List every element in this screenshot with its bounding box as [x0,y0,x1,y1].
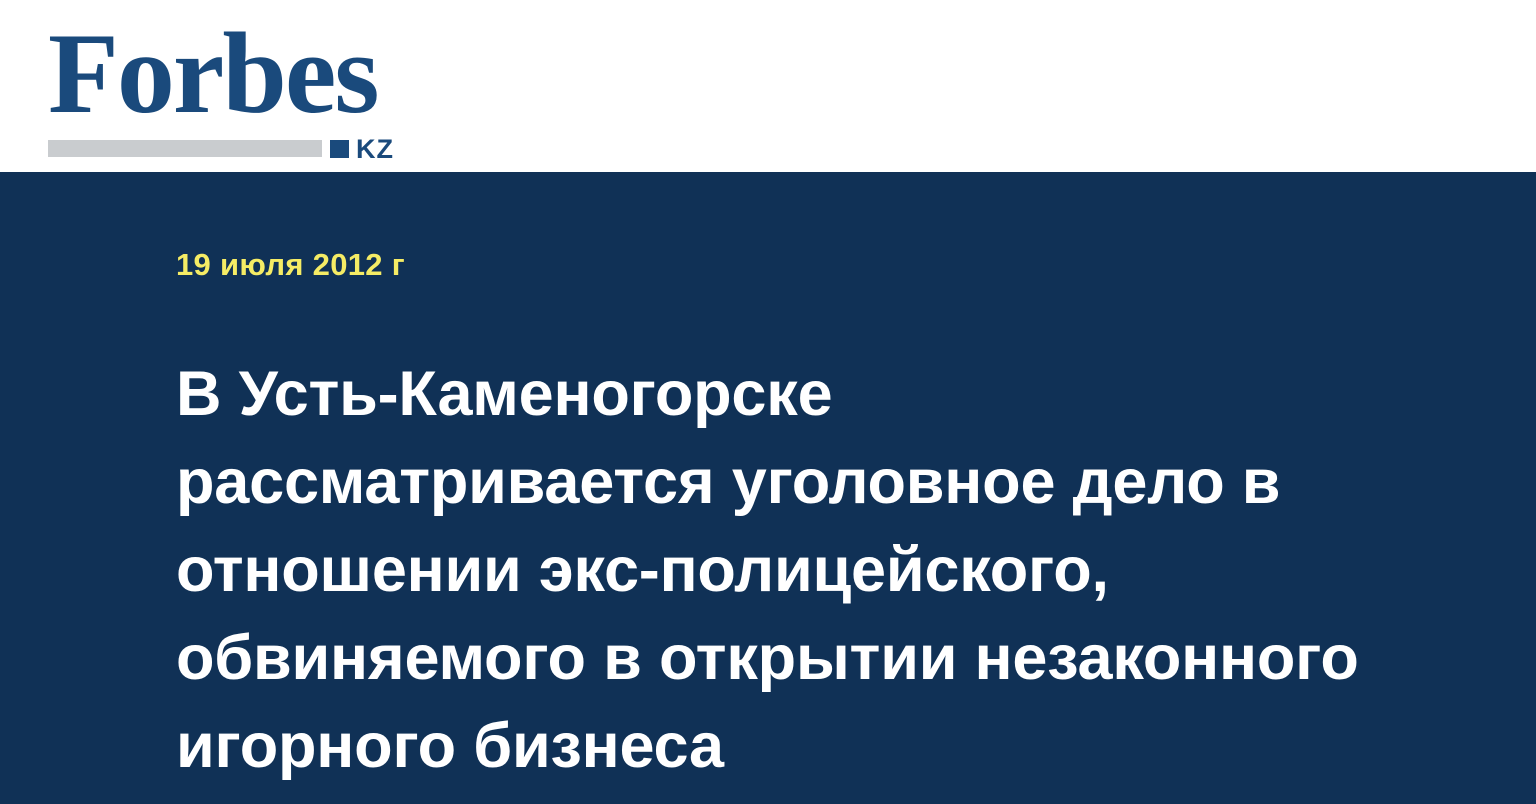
logo-square-icon [330,140,349,158]
forbes-kz-logo[interactable]: Forbes KZ [48,22,408,148]
article-publish-date: 19 июля 2012 г [176,248,405,282]
site-header: Forbes KZ [0,0,1536,172]
forbes-wordmark: Forbes [48,22,408,126]
article-headline: В Усть-Каменогорске рассматривается угол… [176,350,1366,790]
article-page: Forbes KZ 19 июля 2012 г В Усть-Каменого… [0,0,1536,804]
logo-kz-suffix: KZ [356,136,394,163]
article-hero: 19 июля 2012 г В Усть-Каменогорске рассм… [0,172,1536,804]
logo-underline-bar [48,140,322,157]
